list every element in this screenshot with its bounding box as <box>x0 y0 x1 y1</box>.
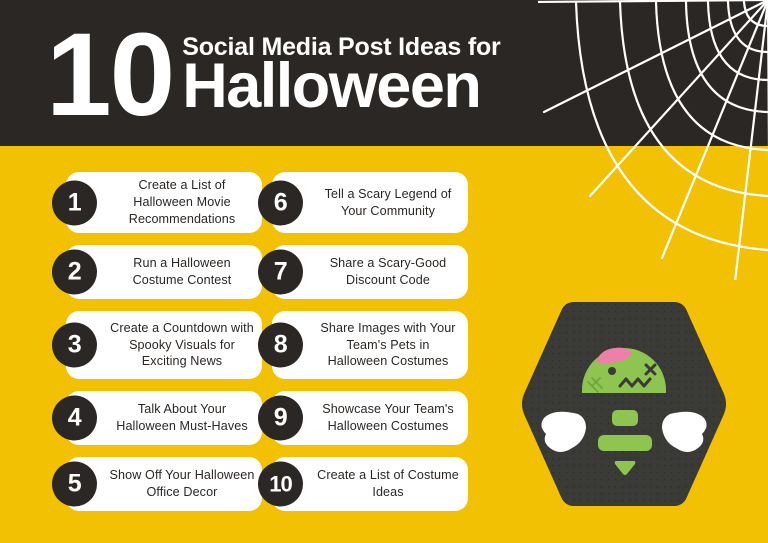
item-label: Talk About Your Halloween Must-Haves <box>109 401 255 434</box>
zombie-bee-icon <box>516 296 732 512</box>
list-item[interactable]: 5 Show Off Your Halloween Office Decor <box>66 457 262 511</box>
bee-eye-left <box>608 367 616 375</box>
item-number-badge: 8 <box>258 323 303 368</box>
item-label: Show Off Your Halloween Office Decor <box>109 467 255 500</box>
item-label: Showcase Your Team's Halloween Costumes <box>315 401 461 434</box>
item-label: Create a List of Halloween Movie Recomme… <box>109 177 255 227</box>
list-item[interactable]: 7 Share a Scary-Good Discount Code <box>272 245 468 299</box>
item-number-badge: 5 <box>52 462 97 507</box>
header-count: 10 <box>46 27 173 124</box>
item-number-badge: 7 <box>258 250 303 295</box>
item-label: Share Images with Your Team's Pets in Ha… <box>315 320 461 370</box>
item-label: Tell a Scary Legend of Your Community <box>315 186 461 219</box>
item-number-badge: 9 <box>258 396 303 441</box>
bee-stripe-2 <box>598 435 652 451</box>
item-label: Create a Countdown with Spooky Visuals f… <box>109 320 255 370</box>
hexagon-badge <box>522 302 726 506</box>
list-item[interactable]: 3 Create a Countdown with Spooky Visuals… <box>66 311 262 379</box>
list-item[interactable]: 10 Create a List of Costume Ideas <box>272 457 468 511</box>
item-label: Share a Scary-Good Discount Code <box>315 255 461 288</box>
item-label: Create a List of Costume Ideas <box>315 467 461 500</box>
halloween-infographic-poster: 10 Social Media Post Ideas for Halloween <box>0 0 768 543</box>
list-item[interactable]: 8 Share Images with Your Team's Pets in … <box>272 311 468 379</box>
item-number-badge: 6 <box>258 180 303 225</box>
page-title: Halloween <box>182 58 500 115</box>
header-title-stack: Social Media Post Ideas for Halloween <box>182 34 500 115</box>
list-item[interactable]: 2 Run a Halloween Costume Contest <box>66 245 262 299</box>
list-item[interactable]: 6 Tell a Scary Legend of Your Community <box>272 172 468 233</box>
item-number-badge: 1 <box>52 180 97 225</box>
item-number-badge: 2 <box>52 250 97 295</box>
bee-stripe-1 <box>612 410 638 426</box>
item-number-badge: 10 <box>258 462 303 507</box>
item-number-badge: 3 <box>52 323 97 368</box>
item-number-badge: 4 <box>52 396 97 441</box>
item-label: Run a Halloween Costume Contest <box>109 255 255 288</box>
list-item[interactable]: 4 Talk About Your Halloween Must-Haves <box>66 391 262 445</box>
header-content: 10 Social Media Post Ideas for Halloween <box>46 0 501 146</box>
list-item[interactable]: 9 Showcase Your Team's Halloween Costume… <box>272 391 468 445</box>
list-item[interactable]: 1 Create a List of Halloween Movie Recom… <box>66 172 262 233</box>
